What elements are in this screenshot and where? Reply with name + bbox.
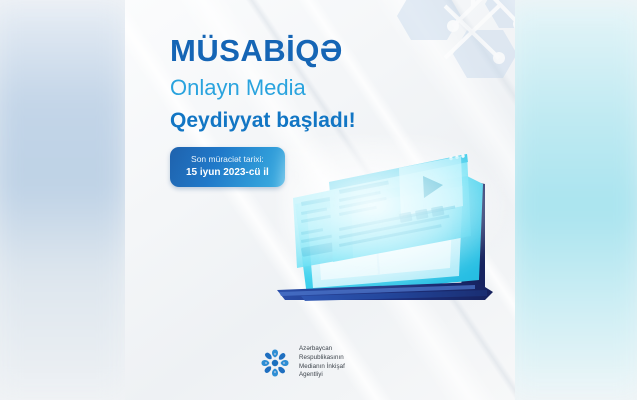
- blurred-edge-band-right: [505, 0, 637, 400]
- deadline-label: Son müraciət tarixi:: [186, 154, 269, 165]
- logo-line-2: Respublikasının: [299, 354, 345, 363]
- laptop-illustration: [271, 140, 515, 315]
- logo-line-3: Medianın İnkişaf: [299, 363, 345, 372]
- artwork-area: MÜSABİQƏ Onlayn Media Qeydiyyat başladı!…: [125, 0, 515, 400]
- page-subtitle: Onlayn Media: [170, 77, 356, 99]
- headline-block: MÜSABİQƏ Onlayn Media Qeydiyyat başladı!: [170, 35, 356, 131]
- deadline-date: 15 iyun 2023-cü il: [186, 166, 269, 179]
- deadline-badge: Son müraciət tarixi: 15 iyun 2023-cü il: [170, 147, 285, 187]
- blurred-edge-band-left: [0, 0, 130, 400]
- ornamental-pattern-icon: [349, 0, 515, 146]
- page-tagline: Qeydiyyat başladı!: [170, 110, 356, 131]
- page-title: MÜSABİQƏ: [170, 35, 356, 66]
- logo-line-4: Agentliyi: [299, 371, 345, 380]
- agency-logo: Azərbaycan Respublikasının Medianın İnki…: [260, 345, 345, 380]
- azerbaijan-star-ornament-icon: [260, 348, 290, 378]
- logo-line-1: Azərbaycan: [299, 345, 345, 354]
- agency-logo-text: Azərbaycan Respublikasının Medianın İnki…: [299, 345, 345, 380]
- poster-canvas: MÜSABİQƏ Onlayn Media Qeydiyyat başladı!…: [0, 0, 637, 400]
